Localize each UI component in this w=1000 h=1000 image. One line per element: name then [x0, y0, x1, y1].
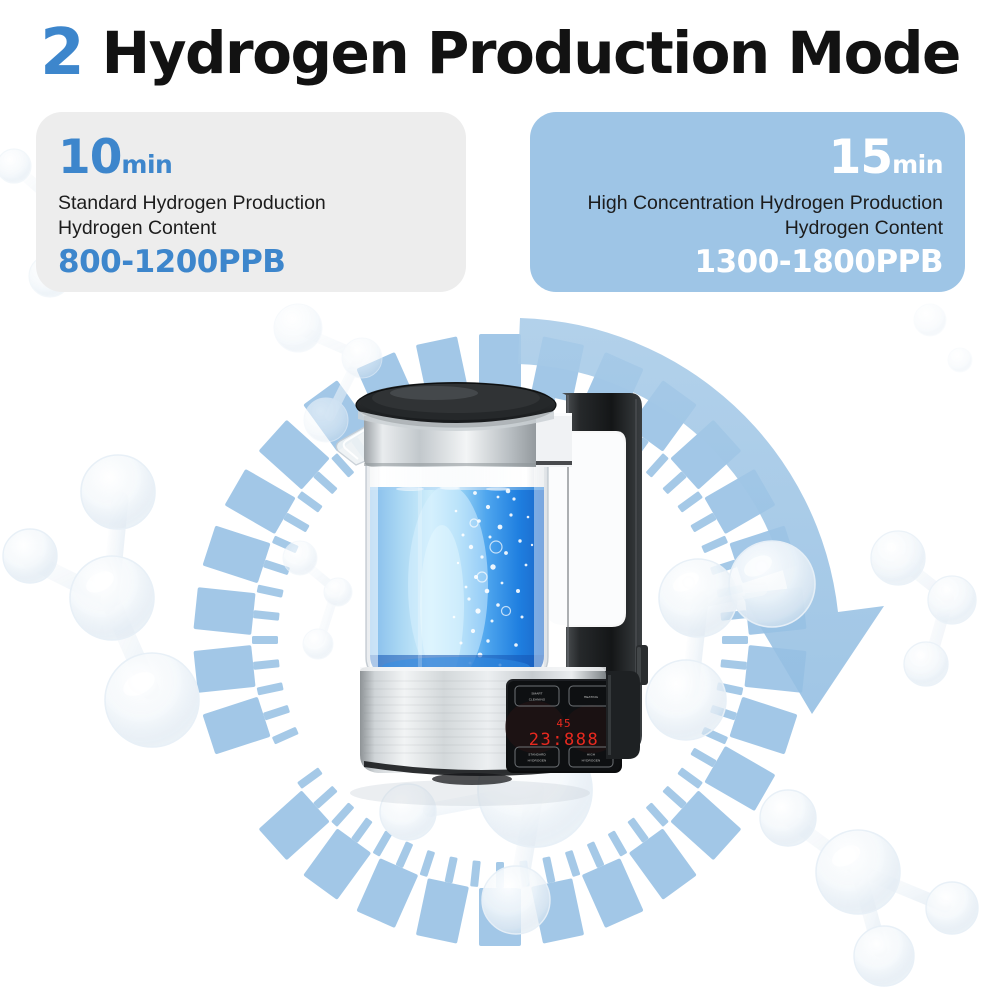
mode-card-high-concentration[interactable]: 15min High Concentration Hydrogen Produc…	[530, 112, 965, 292]
product-image-hydrogen-kettle: SMART CLEANING HEATING 45 23:888 STANDAR…	[330, 355, 690, 815]
page-title: 2 Hydrogen Production Mode	[0, 14, 1000, 92]
high-content-value: 1300-1800PPB	[695, 247, 944, 278]
btn-standard-hydrogen-line1: STANDARD	[528, 753, 546, 757]
high-duration: 15min	[829, 134, 943, 181]
btn-standard-hydrogen-line2: HYDROGEN	[528, 759, 547, 763]
high-description: High Concentration Hydrogen Production H…	[587, 191, 943, 241]
high-duration-unit: min	[892, 150, 943, 179]
title-text: Hydrogen Production Mode	[102, 24, 960, 82]
step-number: 2	[40, 21, 84, 85]
infographic-canvas: 2 Hydrogen Production Mode 10min Standar…	[0, 0, 1000, 1000]
btn-high-hydrogen-line2: HYDROGEN	[582, 759, 601, 763]
btn-heating-label: HEATING	[584, 695, 599, 699]
high-duration-value: 15	[829, 130, 892, 185]
standard-duration-unit: min	[121, 150, 172, 179]
standard-desc-line2: Hydrogen Content	[58, 216, 326, 241]
standard-duration-value: 10	[58, 130, 121, 185]
standard-duration: 10min	[58, 134, 172, 181]
btn-high-hydrogen-line1: HIGH	[587, 753, 595, 757]
high-desc-line2: Hydrogen Content	[587, 216, 943, 241]
mode-card-standard[interactable]: 10min Standard Hydrogen Production Hydro…	[36, 112, 466, 292]
control-panel: SMART CLEANING HEATING 45 23:888 STANDAR…	[505, 679, 622, 773]
high-desc-line1: High Concentration Hydrogen Production	[587, 191, 943, 216]
standard-content-value: 800-1200PPB	[58, 247, 285, 278]
btn-smart-cleaning-line2: CLEANING	[529, 698, 546, 702]
btn-smart-cleaning-line1: SMART	[531, 692, 542, 696]
standard-desc-line1: Standard Hydrogen Production	[58, 191, 326, 216]
standard-description: Standard Hydrogen Production Hydrogen Co…	[58, 191, 326, 241]
led-small-readout: 45	[556, 717, 571, 730]
